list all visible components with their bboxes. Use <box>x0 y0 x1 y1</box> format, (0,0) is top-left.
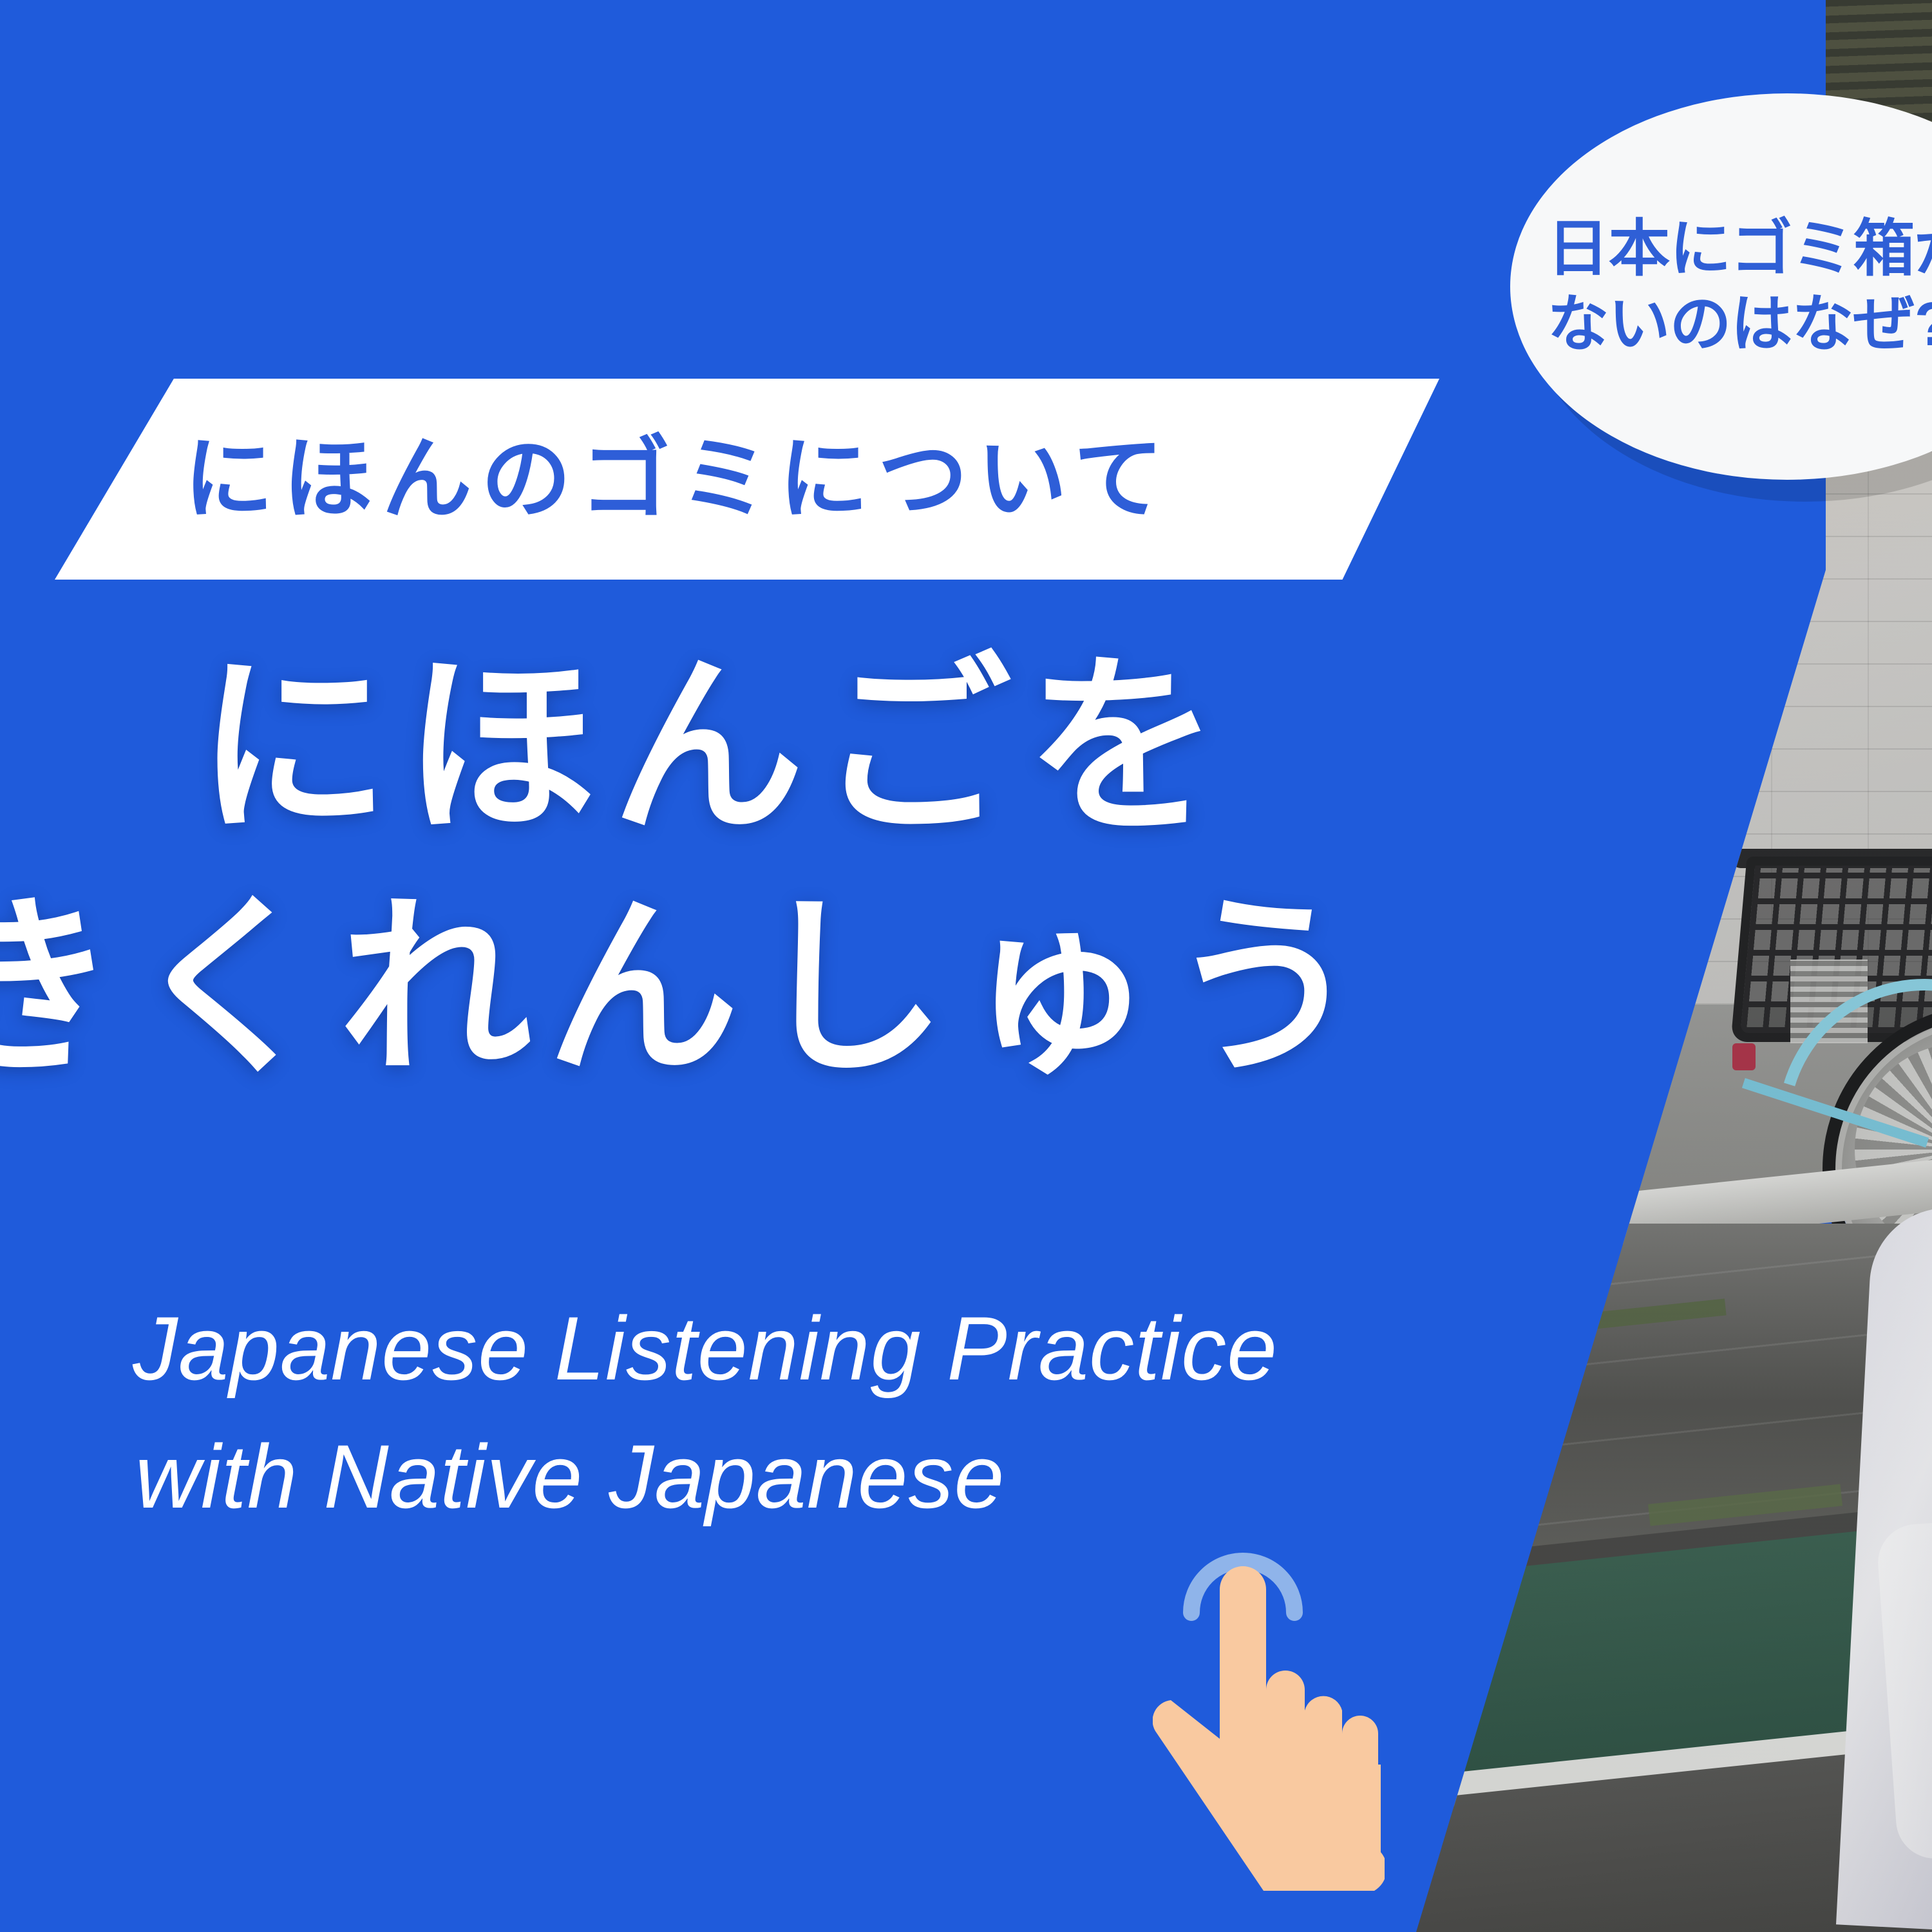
main-headline: にほんごを きくれんしゅう <box>0 650 1546 1084</box>
topic-banner-label: にほんのゴミについて <box>184 434 1173 524</box>
thumbnail-canvas: 日本にゴミ箱が ないのはなぜ? にほんのゴミについて にほんごを きくれんしゅう… <box>0 0 1932 1932</box>
speech-bubble-text: 日本にゴミ箱が ないのはなぜ? <box>1548 211 1932 362</box>
subtitle-line-2: with Native Japanese <box>0 1413 1449 1541</box>
speech-bubble: 日本にゴミ箱が ないのはなぜ? <box>1510 93 1932 480</box>
topic-banner: にほんのゴミについて <box>55 379 1439 580</box>
speech-bubble-line-2: ないのはなぜ? <box>1548 287 1932 362</box>
tap-hand-cursor-icon[interactable] <box>1153 1546 1385 1932</box>
speech-bubble-line-1: 日本にゴミ箱が <box>1548 211 1932 287</box>
headline-line-2: きくれんしゅう <box>0 891 1546 1084</box>
english-subtitle: Japanese Listening Practice with Native … <box>0 1285 1449 1541</box>
headline-line-1: にほんごを <box>0 650 1546 844</box>
subtitle-line-1: Japanese Listening Practice <box>0 1285 1449 1413</box>
